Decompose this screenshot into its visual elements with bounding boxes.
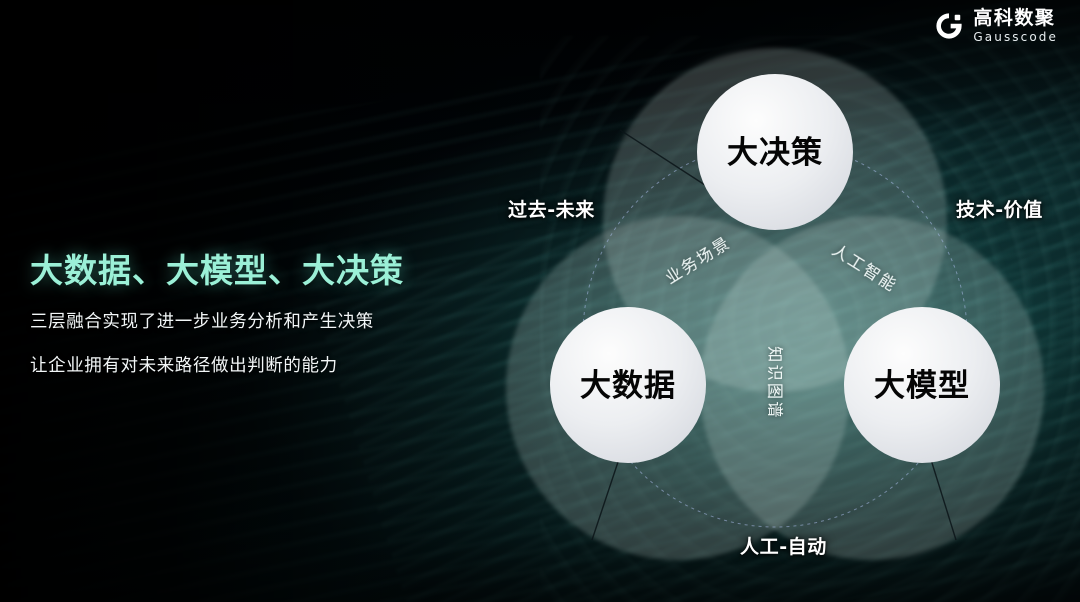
gausscode-g-mark <box>934 11 964 41</box>
logo-english-name: Gausscode <box>973 31 1058 43</box>
logo-chinese-name: 高科数聚 <box>973 9 1058 28</box>
venn-label-bigdata: 大数据 <box>580 368 676 404</box>
venn-label-decision: 大决策 <box>727 135 823 171</box>
axis-caption-left: 过去-未来 <box>508 195 595 222</box>
subtitle-line-2: 让企业拥有对未来路径做出判断的能力 <box>30 357 460 375</box>
venn-intersection-knowledge-graph: 知识图谱 <box>766 346 785 420</box>
axis-caption-right: 技术-价值 <box>956 195 1043 222</box>
page-title: 大数据、大模型、大决策 <box>30 252 460 291</box>
axis-caption-bottom: 人工-自动 <box>740 532 827 559</box>
venn-diagram: 大决策 大数据 大模型 业务场景 人工智能 知识图谱 <box>470 10 1080 570</box>
headline-block: 大数据、大模型、大决策 三层融合实现了进一步业务分析和产生决策 让企业拥有对未来… <box>30 252 460 376</box>
subtitle-line-1: 三层融合实现了进一步业务分析和产生决策 <box>30 313 460 331</box>
venn-label-model: 大模型 <box>874 368 970 404</box>
logo-wordmark: 高科数聚 Gausscode <box>973 9 1058 43</box>
slide-canvas: 高科数聚 Gausscode 大数据、大模型、大决策 三层融合实现了进一步业务分… <box>0 0 1080 602</box>
brand-logo: 高科数聚 Gausscode <box>934 9 1058 43</box>
